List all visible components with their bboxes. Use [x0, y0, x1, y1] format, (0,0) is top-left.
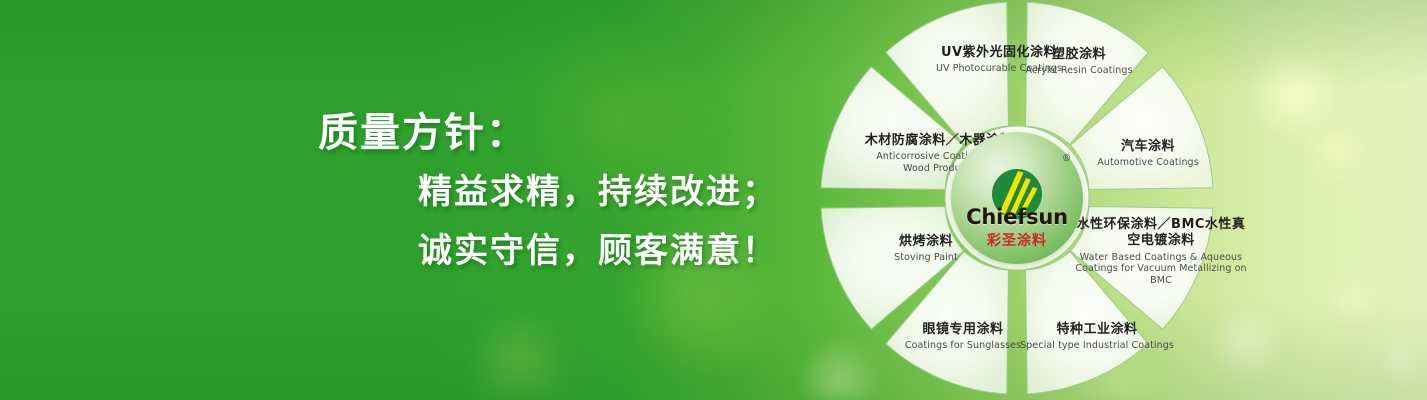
- promotional-banner: 质量方针： 精益求精，持续改进； 诚实守信，顾客满意！: [0, 0, 1427, 400]
- registered-trademark-icon: ®: [1062, 154, 1071, 164]
- slogan-line-3: 诚实守信，顾客满意！: [300, 233, 820, 270]
- slogan-line-2: 精益求精，持续改进；: [300, 174, 820, 211]
- product-category-wheel: UV紫外光固化涂料 UV Photocurable Coatings 塑胶涂料 …: [821, 2, 1213, 394]
- slogan-line-1: 质量方针：: [300, 112, 820, 154]
- chiefsun-logo: ® Chiefsun 彩圣涂料: [951, 132, 1083, 264]
- logo-brand-name-cn: 彩圣涂料: [951, 230, 1083, 250]
- quality-policy-slogan: 质量方针： 精益求精，持续改进； 诚实守信，顾客满意！: [300, 112, 820, 271]
- logo-brand-name-en: Chiefsun: [951, 205, 1083, 229]
